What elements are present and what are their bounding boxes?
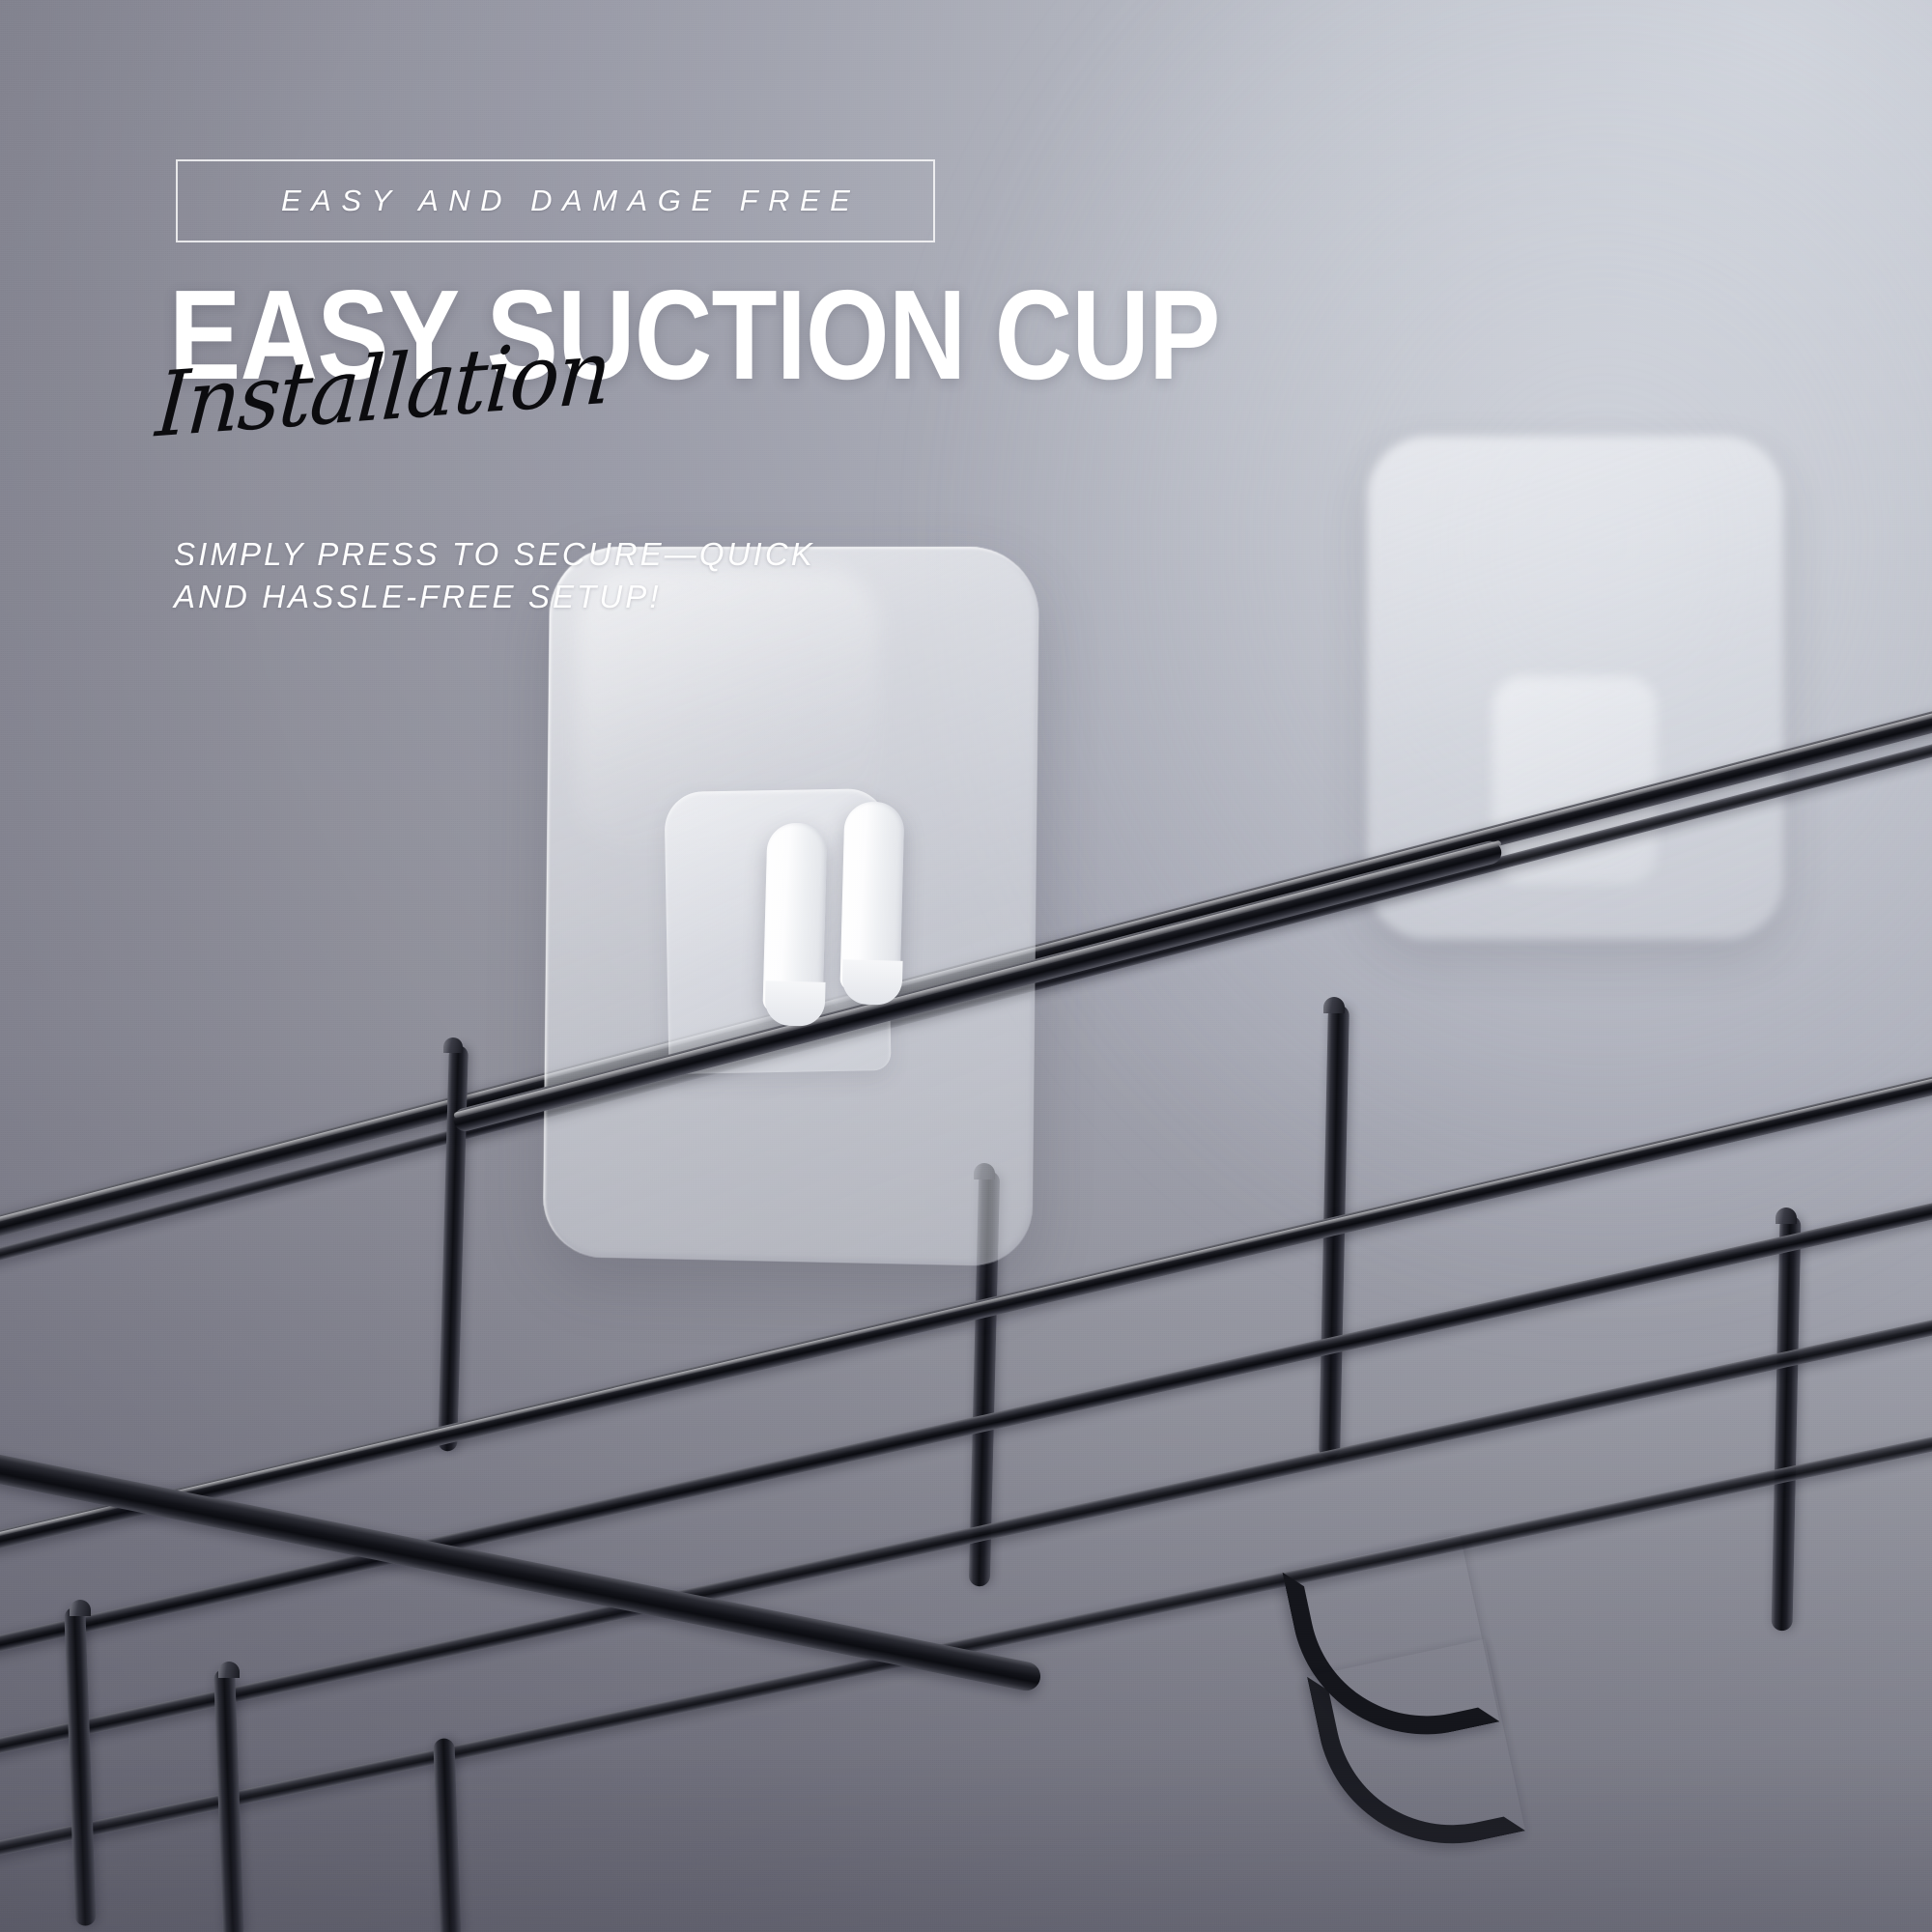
subtitle-line-1: SIMPLY PRESS TO SECURE—QUICK — [174, 533, 815, 576]
product-marketing-image: EASY AND DAMAGE FREE EASY SUCTION CUP In… — [0, 0, 1932, 1932]
text-overlay: EASY AND DAMAGE FREE EASY SUCTION CUP In… — [0, 0, 1932, 1932]
eyebrow-badge-label: EASY AND DAMAGE FREE — [281, 184, 860, 218]
eyebrow-badge: EASY AND DAMAGE FREE — [176, 159, 935, 242]
subtitle-block: SIMPLY PRESS TO SECURE—QUICK AND HASSLE-… — [174, 533, 815, 617]
subtitle-line-2: AND HASSLE-FREE SETUP! — [174, 576, 815, 618]
